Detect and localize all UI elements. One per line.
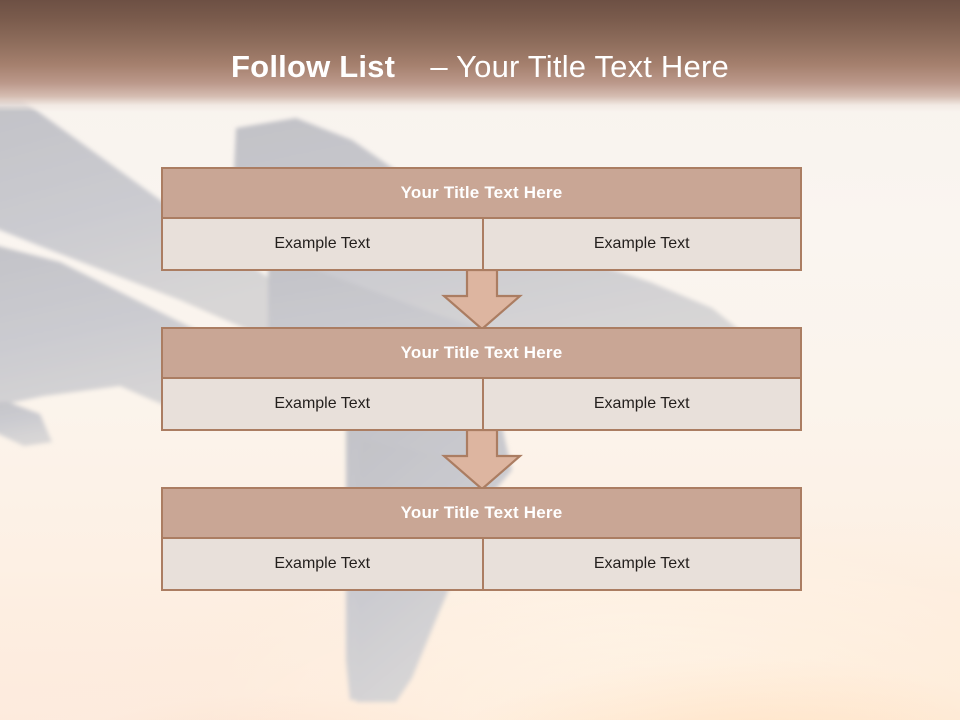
flow-step-3-header: Your Title Text Here xyxy=(161,487,802,539)
flow-step-3-cell-right[interactable]: Example Text xyxy=(482,539,801,589)
flow-step-2-cell-right[interactable]: Example Text xyxy=(482,379,801,429)
flow-step-2-cell-left[interactable]: Example Text xyxy=(163,379,482,429)
flow-step-1[interactable]: Your Title Text Here Example Text Exampl… xyxy=(161,167,802,271)
slide-canvas: Follow List – Your Title Text Here Your … xyxy=(0,0,960,720)
flow-step-3-cell-left[interactable]: Example Text xyxy=(163,539,482,589)
flow-step-1-header: Your Title Text Here xyxy=(161,167,802,219)
flow-step-3[interactable]: Your Title Text Here Example Text Exampl… xyxy=(161,487,802,591)
page-title-light: – Your Title Text Here xyxy=(430,49,729,84)
flow-step-1-cell-right[interactable]: Example Text xyxy=(482,219,801,269)
flow-step-2-header: Your Title Text Here xyxy=(161,327,802,379)
flow-step-2-body: Example Text Example Text xyxy=(161,379,802,431)
flow-connector-1 xyxy=(161,271,802,327)
flow-step-1-cell-left[interactable]: Example Text xyxy=(163,219,482,269)
arrow-down-icon xyxy=(441,269,523,331)
page-title-strong: Follow List xyxy=(231,49,395,84)
follow-list-flow: Your Title Text Here Example Text Exampl… xyxy=(161,167,802,591)
flow-step-1-body: Example Text Example Text xyxy=(161,219,802,271)
flow-step-2[interactable]: Your Title Text Here Example Text Exampl… xyxy=(161,327,802,431)
flow-connector-2 xyxy=(161,431,802,487)
arrow-down-icon xyxy=(441,429,523,491)
page-title: Follow List – Your Title Text Here xyxy=(0,49,960,85)
flow-step-3-body: Example Text Example Text xyxy=(161,539,802,591)
